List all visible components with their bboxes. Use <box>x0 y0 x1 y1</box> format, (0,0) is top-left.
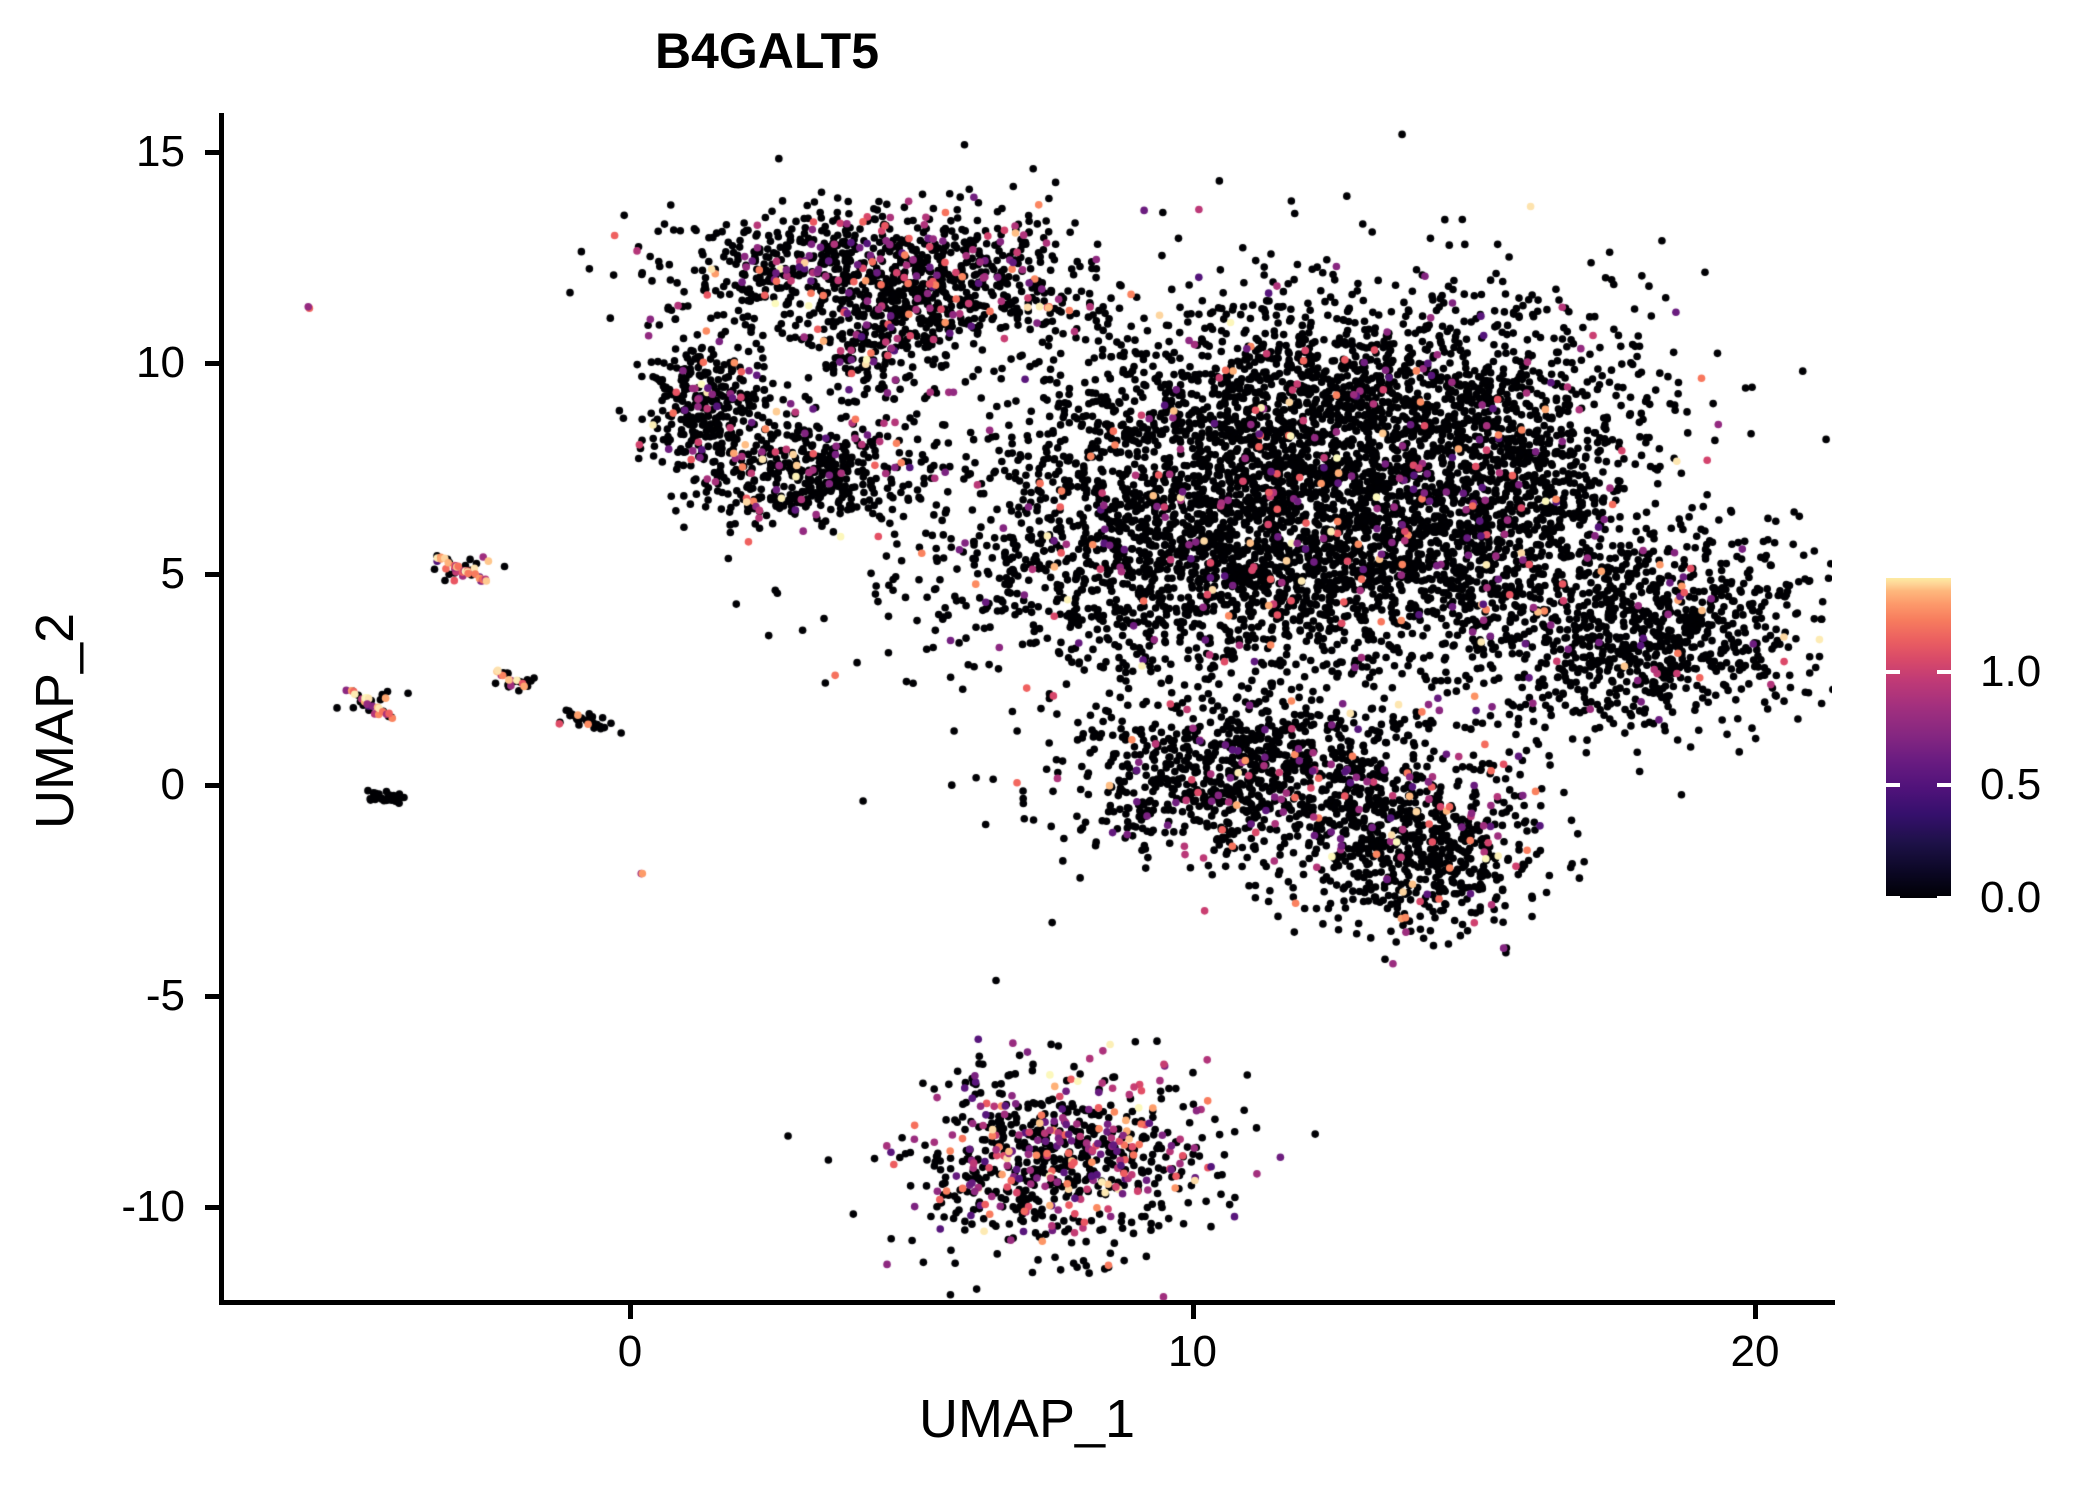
y-tick-label: 15 <box>0 130 185 174</box>
colorbar-tick-label: 0.5 <box>1980 763 2041 807</box>
x-tick-label: 10 <box>1093 1330 1293 1374</box>
colorbar-tick-mark <box>1886 670 1900 674</box>
colorbar-tick-mark <box>1937 670 1951 674</box>
colorbar-gradient <box>1886 578 1951 898</box>
colorbar-legend: 1.00.50.0 <box>1886 578 2086 898</box>
y-tick-mark <box>205 572 222 577</box>
x-tick-mark <box>1191 1302 1196 1319</box>
y-axis-title: UMAP_2 <box>24 401 86 1041</box>
x-axis-title: UMAP_1 <box>222 1388 1832 1450</box>
x-tick-label: 0 <box>530 1330 730 1374</box>
y-tick-mark <box>205 994 222 999</box>
page-title: B4GALT5 <box>222 22 1312 80</box>
y-tick-mark <box>205 1205 222 1210</box>
feature-plot-figure: B4GALT5 151050-5-10 01020 UMAP_2 UMAP_1 … <box>0 0 2100 1500</box>
y-tick-label: 10 <box>0 341 185 385</box>
x-tick-mark <box>1753 1302 1758 1319</box>
y-tick-mark <box>205 361 222 366</box>
x-axis-line <box>219 1300 1835 1305</box>
colorbar-tick-mark <box>1886 783 1900 787</box>
y-tick-mark <box>205 783 222 788</box>
x-tick-label: 20 <box>1655 1330 1855 1374</box>
scatter-plot-panel <box>222 115 1832 1302</box>
colorbar-tick-mark <box>1937 896 1951 900</box>
y-tick-label: -10 <box>0 1185 185 1229</box>
scatter-points-layer <box>222 115 1832 1302</box>
colorbar-tick-label: 0.0 <box>1980 876 2041 920</box>
y-axis-line <box>219 113 224 1305</box>
x-tick-mark <box>628 1302 633 1319</box>
colorbar-tick-mark <box>1937 783 1951 787</box>
colorbar-tick-mark <box>1886 896 1900 900</box>
colorbar-tick-label: 1.0 <box>1980 650 2041 694</box>
y-tick-mark <box>205 150 222 155</box>
